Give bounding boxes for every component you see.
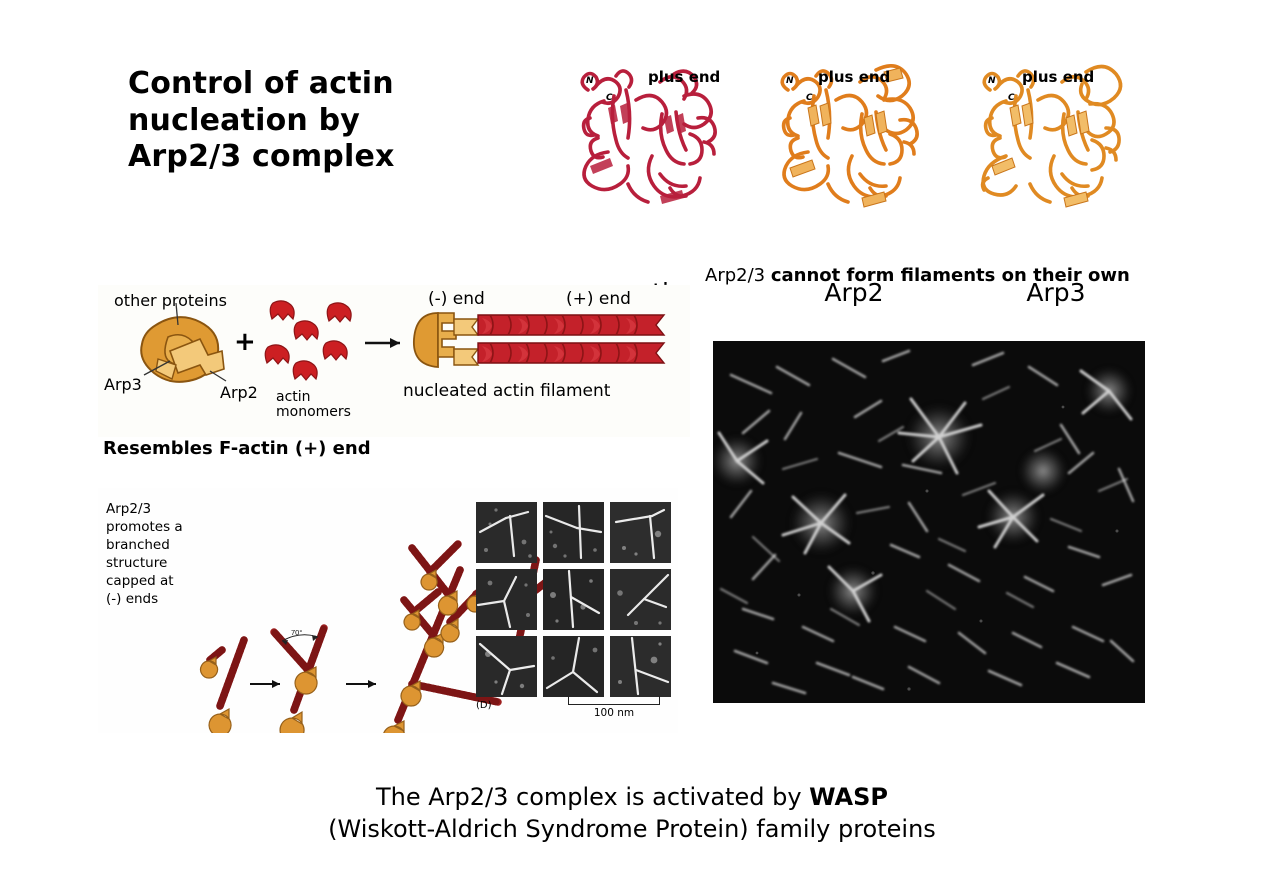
arp-caption-bold: cannot form filaments on their own — [771, 265, 1130, 286]
branched-text-line-3: structure — [106, 554, 201, 572]
arp2-plus-end-label: plus end — [818, 68, 890, 86]
em-cell — [476, 569, 537, 630]
arp2-n-terminus-label: N — [786, 76, 794, 86]
actin-monomers-label-line1: actin — [276, 389, 311, 405]
title-line-2: nucleation by — [128, 103, 528, 140]
em-cell — [610, 569, 671, 630]
bottom-caption: The Arp2/3 complex is activated by WASP … — [0, 782, 1264, 845]
arp2-c-terminus-label: C — [806, 93, 813, 103]
arp3-plus-end-label: plus end — [1022, 68, 1094, 86]
branch-arrow-2 — [346, 680, 376, 688]
arp-cannot-form-filaments-caption: Arp2/3 cannot form filaments on their ow… — [705, 265, 1130, 286]
em-cell — [476, 636, 537, 697]
minus-end-label: (-) end — [428, 289, 485, 309]
branched-text-line-5: (-) ends — [106, 590, 201, 608]
arp2-leader — [210, 371, 226, 381]
actin-n-terminus-label: N — [586, 76, 594, 86]
caption-line-1: The Arp2/3 complex is activated by WASP — [0, 782, 1264, 814]
em-cell — [543, 636, 604, 697]
em-cell — [610, 636, 671, 697]
em-cell — [543, 502, 604, 563]
branch-stage-2: 70° — [274, 628, 324, 733]
arp2-label: Arp2 — [220, 383, 258, 402]
arp-caption-normal: Arp2/3 — [705, 265, 771, 286]
scale-bar-label: 100 nm — [568, 707, 660, 719]
branched-text-line-4: capped at — [106, 572, 201, 590]
actin-monomers-label-line2: monomers — [276, 404, 351, 420]
actin-plus-end-label: plus end — [648, 68, 720, 86]
other-proteins-label: other proteins — [114, 291, 227, 310]
wasp-bold-label: WASP — [809, 783, 888, 811]
branch-stage-1 — [201, 640, 244, 733]
arp3-c-terminus-label: C — [1008, 93, 1015, 103]
branched-structure-text: Arp2/3 promotes a branched structure cap… — [106, 500, 201, 608]
branched-text-line-0: Arp2/3 — [106, 500, 201, 518]
plus-end-label: (+) end — [566, 289, 631, 309]
scale-bar: 100 nm — [568, 696, 660, 719]
micrograph-image — [713, 341, 1145, 703]
title-line-3: Arp2/3 complex — [128, 139, 528, 176]
nucleated-filament-shape — [414, 313, 664, 367]
fluorescence-micrograph — [713, 341, 1145, 703]
reaction-arrow-icon — [365, 338, 400, 348]
arp3-label: Arp3 — [104, 375, 142, 394]
slide-root: Control of actin nucleation by Arp2/3 co… — [0, 0, 1264, 886]
em-cell — [476, 502, 537, 563]
em-micrograph-grid — [476, 502, 671, 697]
branch-angle-label: 70° — [291, 628, 302, 637]
nucleation-diagram-panel: other proteins Arp3 Arp2 + actin monomer… — [98, 285, 690, 437]
page-title: Control of actin nucleation by Arp2/3 co… — [128, 66, 528, 176]
caption-line-2: (Wiskott-Aldrich Syndrome Protein) famil… — [0, 814, 1264, 846]
scale-bar-line — [568, 696, 660, 705]
branched-text-line-2: branched — [106, 536, 201, 554]
branched-text-line-1: promotes a — [106, 518, 201, 536]
nucleated-filament-caption: nucleated actin filament — [403, 381, 610, 401]
branched-structure-panel: Arp2/3 promotes a branched structure cap… — [98, 488, 678, 733]
em-cell — [610, 502, 671, 563]
branch-arrow-1 — [250, 680, 280, 688]
caption-line-1-text: The Arp2/3 complex is activated by — [376, 783, 809, 811]
plus-sign-label: + — [234, 327, 256, 357]
actin-monomer-group — [265, 301, 351, 380]
protein-structures-panel: N C plus end actin — [556, 56, 1156, 256]
arp3-n-terminus-label: N — [988, 76, 996, 86]
em-cell — [543, 569, 604, 630]
resembles-f-actin-label: Resembles F-actin (+) end — [103, 438, 371, 459]
actin-c-terminus-label: C — [606, 93, 613, 103]
em-panel-letter-label: (D) — [476, 700, 492, 711]
title-line-1: Control of actin — [128, 66, 528, 103]
